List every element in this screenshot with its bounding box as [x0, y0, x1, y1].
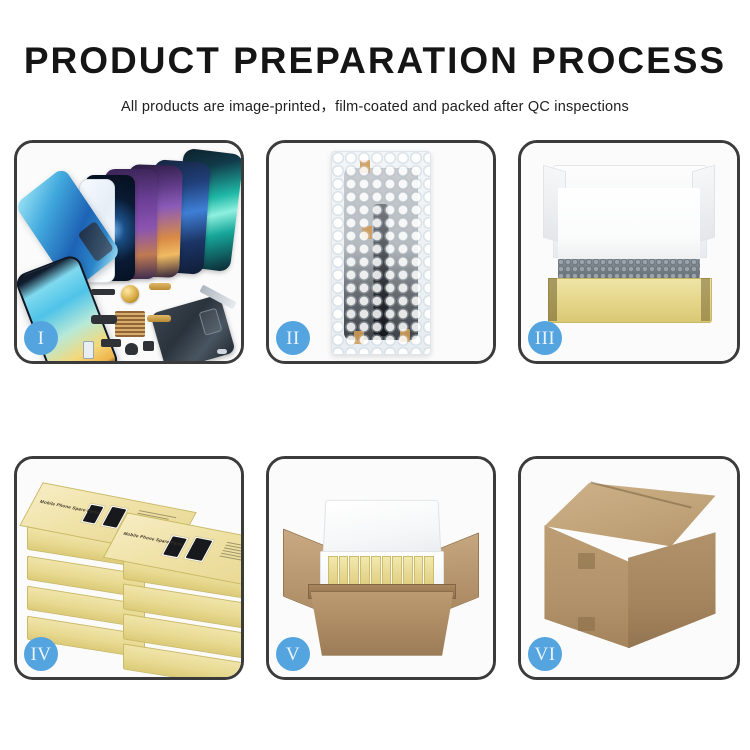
product-preparation-process-page: PRODUCT PREPARATION PROCESS All products… [0, 0, 750, 750]
part-camera-icon [101, 339, 121, 347]
step-badge-4: IV [24, 637, 58, 671]
tape-tab-bottom-left-icon [354, 331, 364, 344]
step-2-caption: Part sealed in bubble wrap bag [269, 143, 270, 144]
styrofoam-lid-icon [323, 500, 442, 557]
round-component-icon [121, 285, 139, 303]
tape-tab-middle-icon [362, 226, 372, 239]
gray-bubble-fill-icon [558, 259, 699, 278]
process-step-panel-1[interactable]: I Phones, screen protectors and spare pa… [14, 140, 244, 364]
process-step-panel-4[interactable]: Mobile Phone Spare Parts Mobile Phone Sp… [14, 456, 244, 680]
step-badge-6: VI [528, 637, 562, 671]
bubble-wrap-bag-icon [331, 151, 431, 355]
process-step-grid: I Phones, screen protectors and spare pa… [0, 0, 750, 750]
step-badge-1: I [24, 321, 58, 355]
step-3-caption: Placed in yellow box with foam padding [521, 143, 522, 144]
part-gold-connector-icon [147, 315, 171, 322]
open-carton-icon [283, 477, 479, 661]
stacked-boxes-icon: Mobile Phone Spare Parts Mobile Phone Sp… [27, 477, 231, 663]
part-gold-flex-icon [149, 283, 171, 290]
carton-tape-lower-icon [578, 617, 595, 631]
step-badge-3: III [528, 321, 562, 355]
sealed-carton-icon [537, 483, 723, 659]
tape-tab-bottom-right-icon [400, 329, 410, 342]
part-screw-icon [217, 349, 227, 354]
process-step-panel-5[interactable]: V Boxes loaded into styrofoam carton [266, 456, 496, 680]
step-6-caption: Sealed shipping carton [521, 459, 522, 460]
process-step-panel-6[interactable]: VI Sealed shipping carton [518, 456, 740, 680]
box-corner-left-icon [548, 278, 557, 320]
step-badge-5: V [276, 637, 310, 671]
part-speaker-icon [125, 343, 138, 355]
tape-tab-top-icon [360, 160, 370, 173]
part-strip-icon [374, 204, 389, 336]
step-4-caption: Boxes stacked for packing [17, 459, 18, 460]
yellow-boxes-inside-icon [328, 556, 434, 585]
carton-body-icon [310, 591, 453, 656]
part-button-icon [143, 341, 154, 351]
step-5-caption: Boxes loaded into styrofoam carton [269, 459, 270, 460]
process-step-panel-3[interactable]: III Placed in yellow box with foam paddi… [518, 140, 740, 364]
part-connector-icon [91, 289, 115, 295]
part-flex-cable-icon [91, 315, 117, 324]
chip-grid-icon [115, 311, 145, 337]
open-yellow-box-icon [543, 165, 715, 327]
part-sim-tray-icon [83, 341, 94, 359]
box-spec-lines [219, 542, 241, 566]
box-front-panel-icon [548, 278, 712, 322]
step-badge-2: II [276, 321, 310, 355]
process-step-panel-2[interactable]: II Part sealed in bubble wrap bag [266, 140, 496, 364]
carton-tape-upper-icon [578, 553, 595, 569]
box-corner-right-icon [701, 278, 710, 320]
white-foam-sheet-icon [558, 188, 699, 259]
carton-right-face-icon [628, 532, 715, 648]
